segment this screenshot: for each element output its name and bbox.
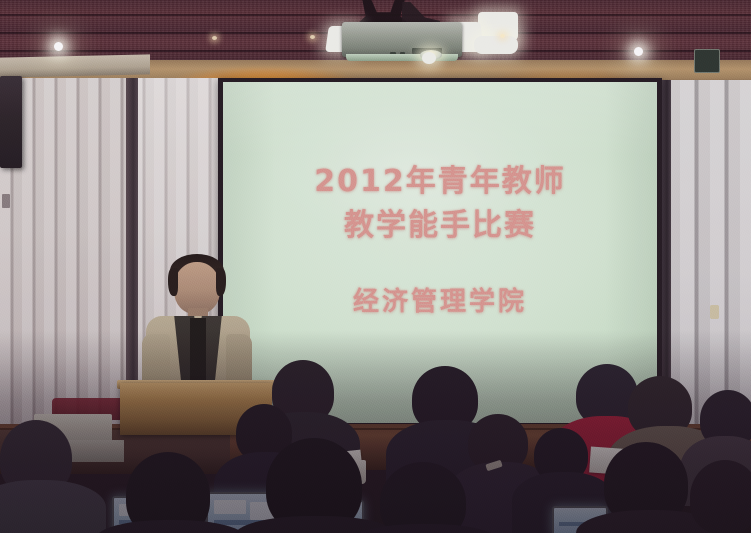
presenter-shirt <box>190 318 206 388</box>
laptop-window <box>214 500 246 514</box>
projector-vent <box>694 49 720 73</box>
wall-speaker <box>0 76 22 168</box>
speaker-label <box>2 194 10 208</box>
ceiling-lamp <box>474 36 518 54</box>
ceiling-lamp <box>422 52 436 64</box>
ceiling-beam-left <box>0 54 150 77</box>
ceiling-spotlight <box>54 42 63 51</box>
audience-head <box>380 462 466 533</box>
lecture-hall-photo: 2012年青年教师 教学能手比赛 经济管理学院 <box>0 0 751 533</box>
ceiling-projector <box>342 22 462 57</box>
blind-control-knob[interactable] <box>710 305 719 319</box>
audience-shoulders <box>0 480 106 533</box>
ceiling-spotlight <box>212 36 217 40</box>
presenter-hair <box>216 268 226 296</box>
audience-head <box>690 460 751 533</box>
ceiling-spotlight <box>500 34 505 38</box>
presenter-head <box>174 262 220 314</box>
ceiling-spotlight <box>634 47 643 56</box>
ceiling-spotlight <box>310 35 315 39</box>
presenter-hair <box>168 268 178 296</box>
